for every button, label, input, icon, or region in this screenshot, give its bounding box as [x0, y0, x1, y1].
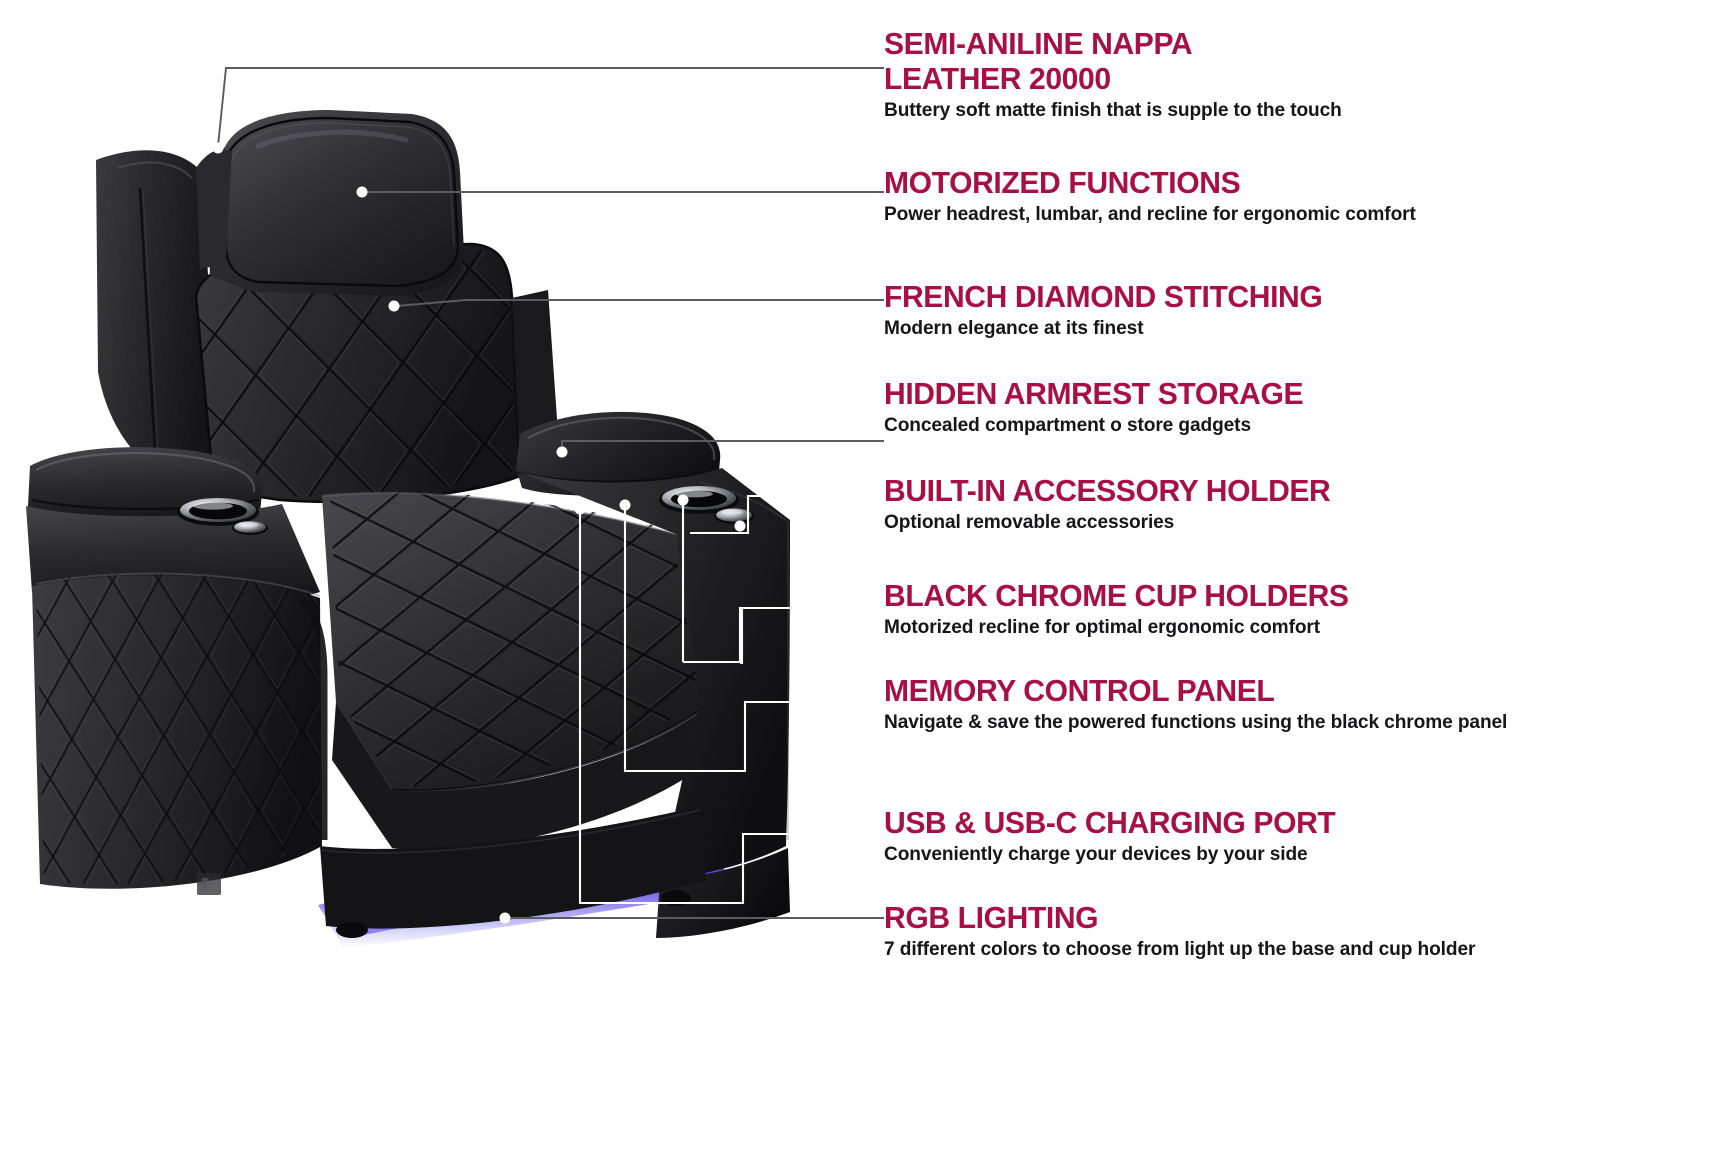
recliner-chair-illustration [0, 0, 880, 1151]
feature-memory-control-panel: MEMORY CONTROL PANEL Navigate & save the… [884, 673, 1520, 734]
feature-description: Buttery soft matte finish that is supple… [884, 98, 1507, 122]
feature-semi-aniline-nappa-leather: SEMI-ANILINE NAPPA LEATHER 20000 Buttery… [884, 26, 1520, 122]
feature-title: BUILT-IN ACCESSORY HOLDER [884, 473, 1501, 508]
feature-list: SEMI-ANILINE NAPPA LEATHER 20000 Buttery… [884, 0, 1726, 1151]
feature-black-chrome-cup-holders: BLACK CHROME CUP HOLDERS Motorized recli… [884, 578, 1520, 639]
brand-badge [197, 873, 221, 895]
product-image [0, 0, 880, 1151]
feature-usb-charging-port: USB & USB-C CHARGING PORT Conveniently c… [884, 805, 1520, 866]
feature-motorized-functions: MOTORIZED FUNCTIONS Power headrest, lumb… [884, 165, 1520, 226]
feature-title: SEMI-ANILINE NAPPA LEATHER 20000 [884, 26, 1501, 96]
feature-title: MOTORIZED FUNCTIONS [884, 165, 1501, 200]
feature-description: Motorized recline for optimal ergonomic … [884, 615, 1507, 639]
infographic-canvas: SEMI-ANILINE NAPPA LEATHER 20000 Buttery… [0, 0, 1726, 1151]
chair-foot-left [336, 922, 368, 938]
feature-title: BLACK CHROME CUP HOLDERS [884, 578, 1501, 613]
feature-description: Navigate & save the powered functions us… [884, 710, 1507, 734]
feature-hidden-armrest-storage: HIDDEN ARMREST STORAGE Concealed compart… [884, 376, 1520, 437]
chair-foot-right [661, 890, 691, 906]
feature-french-diamond-stitching: FRENCH DIAMOND STITCHING Modern elegance… [884, 279, 1520, 340]
feature-description: Power headrest, lumbar, and recline for … [884, 202, 1507, 226]
feature-description: Conveniently charge your devices by your… [884, 842, 1507, 866]
feature-title: MEMORY CONTROL PANEL [884, 673, 1501, 708]
feature-built-in-accessory-holder: BUILT-IN ACCESSORY HOLDER Optional remov… [884, 473, 1520, 534]
feature-title: HIDDEN ARMREST STORAGE [884, 376, 1501, 411]
feature-title: RGB LIGHTING [884, 900, 1501, 935]
headrest-flap [220, 110, 464, 296]
feature-description: 7 different colors to choose from light … [884, 937, 1507, 961]
feature-title: FRENCH DIAMOND STITCHING [884, 279, 1501, 314]
feature-rgb-lighting: RGB LIGHTING 7 different colors to choos… [884, 900, 1520, 961]
feature-title: USB & USB-C CHARGING PORT [884, 805, 1501, 840]
feature-description: Modern elegance at its finest [884, 316, 1507, 340]
feature-description: Concealed compartment o store gadgets [884, 413, 1507, 437]
feature-description: Optional removable accessories [884, 510, 1507, 534]
